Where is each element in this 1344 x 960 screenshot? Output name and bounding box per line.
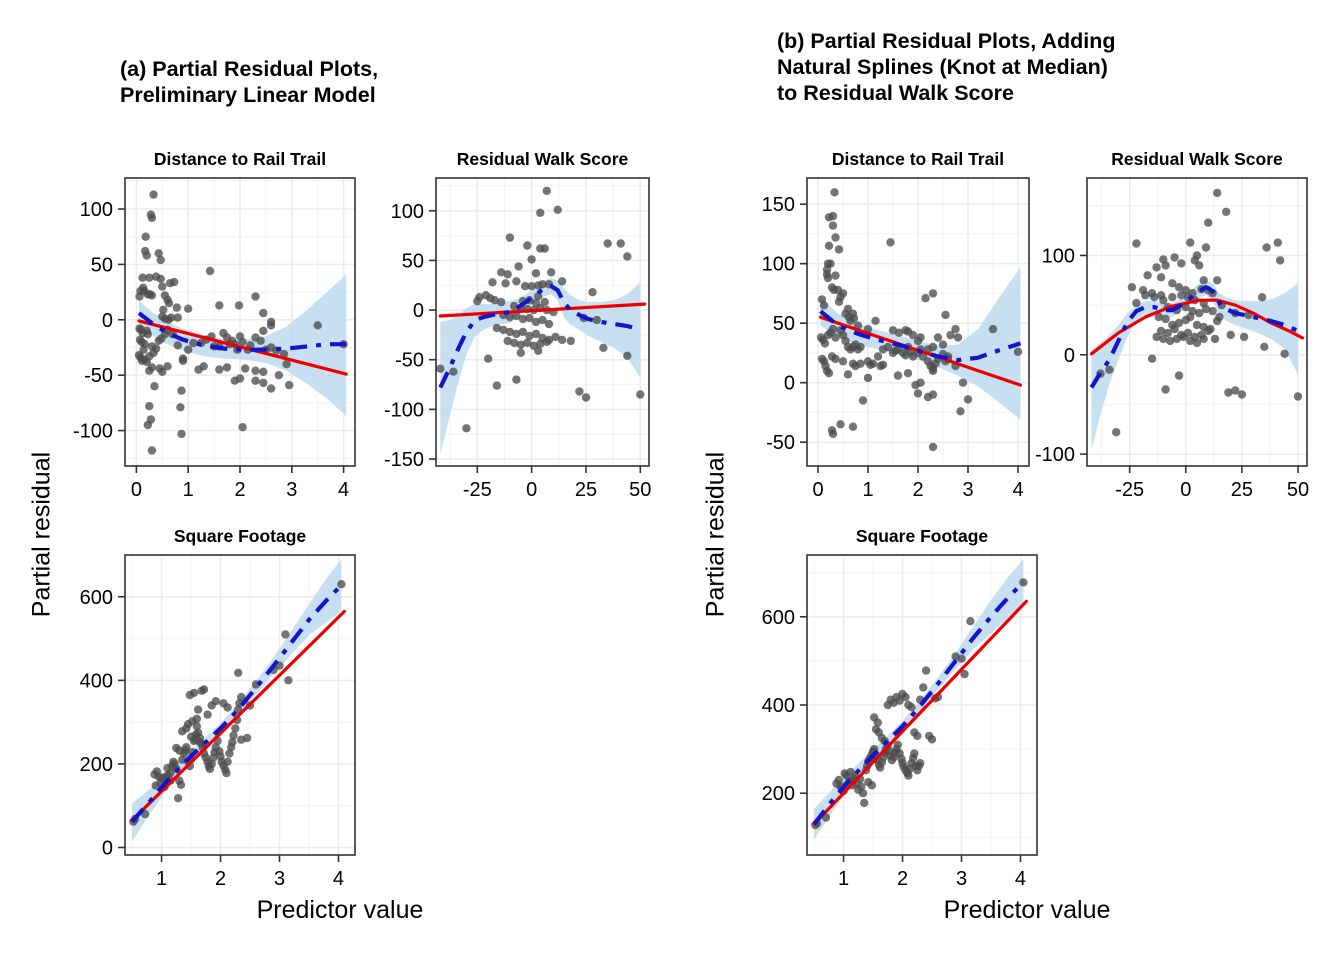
- data-point: [1143, 271, 1151, 279]
- data-point: [829, 212, 837, 220]
- data-point: [532, 269, 540, 277]
- data-point: [929, 289, 937, 297]
- data-point: [575, 387, 583, 395]
- data-point: [874, 352, 882, 360]
- data-point: [1161, 385, 1169, 393]
- y-tick-label: 50: [402, 250, 424, 272]
- data-point: [1224, 388, 1232, 396]
- x-tick-label: 25: [575, 479, 597, 501]
- data-point: [1200, 276, 1208, 284]
- panel-a-x-axis-title: Predictor value: [200, 896, 480, 925]
- data-point: [275, 371, 283, 379]
- data-point: [177, 781, 185, 789]
- subplot-title: Distance to Rail Trail: [832, 149, 1004, 169]
- data-point: [922, 666, 930, 674]
- data-point: [182, 724, 190, 732]
- data-point: [1276, 256, 1284, 264]
- x-tick-label: 25: [1231, 479, 1253, 501]
- data-point: [543, 338, 551, 346]
- x-tick-label: -25: [463, 479, 492, 501]
- data-point: [859, 396, 867, 404]
- data-point: [599, 344, 607, 352]
- data-point: [1240, 333, 1248, 341]
- subplot-square-footage: Square Footage12340200400600: [80, 526, 355, 890]
- data-point: [149, 190, 157, 198]
- data-point: [966, 617, 974, 625]
- data-point: [869, 360, 877, 368]
- data-point: [189, 339, 197, 347]
- x-tick-label: 50: [1287, 479, 1309, 501]
- data-point: [1280, 350, 1288, 358]
- y-tick-label: 600: [80, 587, 113, 609]
- y-tick-label: 100: [391, 201, 424, 223]
- data-point: [604, 239, 612, 247]
- data-point: [1274, 238, 1282, 246]
- y-tick-label: 100: [80, 199, 113, 221]
- data-point: [1132, 299, 1140, 307]
- data-point: [238, 423, 246, 431]
- data-point: [831, 271, 839, 279]
- data-point: [941, 311, 949, 319]
- data-point: [1170, 325, 1178, 333]
- data-point: [860, 799, 868, 807]
- data-point: [886, 238, 894, 246]
- panel-b-plots: Distance to Rail Trail01234-50050100150R…: [672, 0, 1344, 960]
- data-point: [959, 379, 967, 387]
- data-point: [558, 336, 566, 344]
- data-point: [1186, 313, 1194, 321]
- data-point: [871, 317, 879, 325]
- y-tick-label: 0: [1064, 345, 1075, 367]
- data-point: [143, 251, 151, 259]
- data-point: [231, 724, 239, 732]
- data-point: [1222, 208, 1230, 216]
- data-point: [148, 214, 156, 222]
- y-tick-label: 400: [80, 670, 113, 692]
- x-tick-label: 4: [1015, 868, 1026, 890]
- data-point: [212, 697, 220, 705]
- subplot-title: Distance to Rail Trail: [154, 149, 326, 169]
- data-point: [1204, 327, 1212, 335]
- data-point: [157, 275, 165, 283]
- data-point: [449, 368, 457, 376]
- data-point: [169, 758, 177, 766]
- data-point: [901, 693, 909, 701]
- data-point: [241, 364, 249, 372]
- data-point: [165, 299, 173, 307]
- data-point: [194, 705, 202, 713]
- data-point: [314, 321, 322, 329]
- y-tick-label: 150: [762, 194, 795, 216]
- data-point: [173, 303, 181, 311]
- data-point: [831, 333, 839, 341]
- data-point: [868, 781, 876, 789]
- data-point: [473, 297, 481, 305]
- data-point: [285, 381, 293, 389]
- data-point: [1168, 293, 1176, 301]
- panel-a-plots: Distance to Rail Trail01234-100-50050100…: [0, 0, 672, 960]
- data-point: [856, 360, 864, 368]
- data-point: [910, 749, 918, 757]
- x-tick-label: 1: [838, 868, 849, 890]
- data-point: [152, 344, 160, 352]
- y-tick-label: -150: [384, 449, 424, 471]
- data-point: [144, 421, 152, 429]
- data-point: [1213, 189, 1221, 197]
- data-point: [222, 769, 230, 777]
- data-point: [234, 669, 242, 677]
- x-tick-label: -25: [1115, 479, 1144, 501]
- data-point: [929, 443, 937, 451]
- data-point: [849, 423, 857, 431]
- subplot-distance-to-rail-trail: Distance to Rail Trail01234-50050100150: [762, 149, 1029, 501]
- data-point: [964, 395, 972, 403]
- data-point: [820, 301, 828, 309]
- data-point: [916, 759, 924, 767]
- data-point: [251, 292, 259, 300]
- y-tick-label: 600: [762, 607, 795, 629]
- x-tick-label: 3: [286, 479, 297, 501]
- data-point: [916, 333, 924, 341]
- subplot-residual-walk-score: Residual Walk Score-2502550-150-100-5005…: [384, 149, 651, 501]
- data-point: [623, 252, 631, 260]
- data-point: [1161, 261, 1169, 269]
- x-tick-label: 50: [629, 479, 651, 501]
- data-point: [929, 390, 937, 398]
- data-point: [825, 369, 833, 377]
- data-point: [835, 298, 843, 306]
- data-point: [259, 309, 267, 317]
- data-point: [1238, 390, 1246, 398]
- x-tick-label: 4: [333, 868, 344, 890]
- y-tick-label: -100: [384, 399, 424, 421]
- data-point: [543, 187, 551, 195]
- data-point: [623, 352, 631, 360]
- subplot-title: Square Footage: [174, 526, 307, 546]
- data-point: [956, 407, 964, 415]
- data-point: [484, 355, 492, 363]
- y-tick-label: -50: [766, 432, 795, 454]
- data-point: [534, 347, 542, 355]
- data-point: [1128, 283, 1136, 291]
- x-tick-label: 0: [526, 479, 537, 501]
- data-point: [830, 188, 838, 196]
- data-point: [148, 446, 156, 454]
- data-point: [831, 233, 839, 241]
- x-tick-label: 3: [962, 479, 973, 501]
- data-point: [158, 368, 166, 376]
- data-point: [267, 321, 275, 329]
- x-tick-label: 2: [215, 868, 226, 890]
- data-point: [835, 245, 843, 253]
- data-point: [436, 365, 444, 373]
- data-point: [504, 270, 512, 278]
- data-point: [894, 371, 902, 379]
- data-point: [582, 393, 590, 401]
- data-point: [259, 379, 267, 387]
- data-point: [928, 735, 936, 743]
- subplot-title: Residual Walk Score: [1111, 149, 1283, 169]
- data-point: [267, 384, 275, 392]
- data-point: [1258, 293, 1266, 301]
- data-point: [176, 403, 184, 411]
- y-tick-label: 50: [91, 254, 113, 276]
- data-point: [174, 313, 182, 321]
- data-point: [1209, 307, 1217, 315]
- subplot-title: Square Footage: [856, 526, 989, 546]
- data-point: [910, 728, 918, 736]
- data-point: [145, 402, 153, 410]
- data-point: [281, 630, 289, 638]
- x-tick-label: 4: [338, 479, 349, 501]
- subplot-square-footage: Square Footage1234200400600: [762, 526, 1037, 890]
- data-point: [545, 320, 553, 328]
- data-point: [179, 357, 187, 365]
- data-point: [177, 387, 185, 395]
- y-tick-label: -50: [395, 350, 424, 372]
- y-tick-label: 200: [80, 754, 113, 776]
- data-point: [1213, 317, 1221, 325]
- panel-b-x-axis-title: Predictor value: [887, 896, 1167, 925]
- data-point: [859, 789, 867, 797]
- x-tick-label: 2: [897, 868, 908, 890]
- data-point: [1175, 371, 1183, 379]
- data-point: [215, 301, 223, 309]
- data-point: [824, 274, 832, 282]
- data-point: [588, 288, 596, 296]
- data-point: [1161, 315, 1169, 323]
- x-tick-label: 3: [956, 868, 967, 890]
- data-point: [158, 282, 166, 290]
- data-point: [184, 305, 192, 313]
- data-point: [206, 267, 214, 275]
- data-point: [547, 268, 555, 276]
- data-point: [844, 370, 852, 378]
- data-point: [954, 333, 962, 341]
- y-tick-label: -100: [1035, 444, 1075, 466]
- data-point: [259, 368, 267, 376]
- panel-a-y-axis-title: Partial residual: [28, 405, 57, 665]
- data-point: [251, 367, 259, 375]
- data-point: [874, 718, 882, 726]
- x-tick-label: 0: [131, 479, 142, 501]
- data-point: [174, 794, 182, 802]
- data-point: [150, 382, 158, 390]
- x-tick-label: 1: [156, 868, 167, 890]
- data-point: [1141, 291, 1149, 299]
- data-point: [200, 685, 208, 693]
- data-point: [1105, 366, 1113, 374]
- data-point: [951, 325, 959, 333]
- data-point: [914, 389, 922, 397]
- data-point: [839, 357, 847, 365]
- data-point: [1170, 253, 1178, 261]
- data-point: [567, 337, 575, 345]
- data-point: [235, 301, 243, 309]
- data-point: [145, 367, 153, 375]
- data-point: [1204, 219, 1212, 227]
- data-point: [488, 278, 496, 286]
- data-point: [929, 343, 937, 351]
- data-point: [148, 291, 156, 299]
- data-point: [879, 361, 887, 369]
- y-tick-label: 0: [102, 837, 113, 859]
- data-point: [850, 314, 858, 322]
- data-point: [527, 255, 535, 263]
- data-point: [193, 715, 201, 723]
- x-tick-label: 0: [1180, 479, 1191, 501]
- data-point: [825, 242, 833, 250]
- y-tick-label: 200: [762, 783, 795, 805]
- data-point: [829, 221, 837, 229]
- data-point: [243, 734, 251, 742]
- data-point: [1112, 428, 1120, 436]
- panel-a-title: (a) Partial Residual Plots, Preliminary …: [120, 56, 540, 108]
- data-point: [177, 430, 185, 438]
- data-point: [506, 233, 514, 241]
- data-point: [1150, 293, 1158, 301]
- data-point: [223, 363, 231, 371]
- y-tick-label: -50: [84, 365, 113, 387]
- data-point: [1157, 273, 1165, 281]
- figure-root: (a) Partial Residual Plots, Preliminary …: [0, 0, 1344, 960]
- panel-b-y-axis-title: Partial residual: [702, 405, 731, 665]
- data-point: [174, 341, 182, 349]
- data-point: [517, 349, 525, 357]
- data-point: [1262, 243, 1270, 251]
- data-point: [514, 262, 522, 270]
- data-point: [229, 731, 237, 739]
- data-point: [175, 746, 183, 754]
- data-point: [135, 292, 143, 300]
- subplot-distance-to-rail-trail: Distance to Rail Trail01234-100-50050100: [73, 149, 355, 501]
- data-point: [284, 676, 292, 684]
- data-point: [1159, 296, 1167, 304]
- figure-panel-b: (b) Partial Residual Plots, Adding Natur…: [672, 0, 1344, 960]
- data-point: [251, 377, 259, 385]
- data-point: [1202, 243, 1210, 251]
- data-point: [916, 379, 924, 387]
- data-point: [142, 233, 150, 241]
- data-point: [144, 330, 152, 338]
- x-tick-label: 1: [862, 479, 873, 501]
- data-point: [257, 337, 265, 345]
- data-point: [558, 277, 566, 285]
- data-point: [215, 365, 223, 373]
- data-point: [829, 430, 837, 438]
- data-point: [839, 289, 847, 297]
- data-point: [1213, 276, 1221, 284]
- data-point: [337, 580, 345, 588]
- data-point: [259, 327, 267, 335]
- data-point: [1177, 259, 1185, 267]
- data-point: [184, 346, 192, 354]
- data-point: [536, 209, 544, 217]
- data-point: [1152, 263, 1160, 271]
- data-point: [512, 375, 520, 383]
- data-point: [593, 316, 601, 324]
- data-point: [904, 369, 912, 377]
- data-point: [829, 325, 837, 333]
- data-point: [501, 279, 509, 287]
- data-point: [462, 424, 470, 432]
- y-tick-label: 0: [784, 373, 795, 395]
- data-point: [223, 703, 231, 711]
- data-point: [856, 343, 864, 351]
- data-point: [939, 340, 947, 348]
- data-point: [989, 325, 997, 333]
- data-point: [831, 355, 839, 363]
- data-point: [497, 298, 505, 306]
- data-point: [1200, 335, 1208, 343]
- data-point: [636, 390, 644, 398]
- y-tick-label: 100: [762, 254, 795, 276]
- data-point: [163, 764, 171, 772]
- data-point: [957, 655, 965, 663]
- y-tick-label: 0: [413, 300, 424, 322]
- x-tick-label: 4: [1012, 479, 1023, 501]
- data-point: [1227, 331, 1235, 339]
- y-tick-label: -100: [73, 421, 113, 443]
- data-point: [1014, 348, 1022, 356]
- data-point: [894, 741, 902, 749]
- data-point: [523, 241, 531, 249]
- x-tick-label: 0: [812, 479, 823, 501]
- data-point: [617, 239, 625, 247]
- data-point: [821, 339, 829, 347]
- x-tick-label: 3: [274, 868, 285, 890]
- data-point: [864, 374, 872, 382]
- subplot-title: Residual Walk Score: [457, 149, 629, 169]
- data-point: [1195, 261, 1203, 269]
- data-point: [203, 710, 211, 718]
- data-point: [238, 338, 246, 346]
- data-point: [186, 691, 194, 699]
- data-point: [493, 381, 501, 389]
- data-point: [200, 362, 208, 370]
- y-tick-label: 50: [773, 313, 795, 335]
- y-tick-label: 100: [1042, 245, 1075, 267]
- data-point: [934, 333, 942, 341]
- y-tick-label: 0: [102, 310, 113, 332]
- data-point: [1148, 355, 1156, 363]
- data-point: [1260, 343, 1268, 351]
- data-point: [231, 377, 239, 385]
- data-point: [554, 206, 562, 214]
- data-point: [157, 256, 165, 264]
- x-tick-label: 2: [912, 479, 923, 501]
- data-point: [907, 703, 915, 711]
- data-point: [223, 758, 231, 766]
- x-tick-label: 1: [183, 479, 194, 501]
- data-point: [921, 294, 929, 302]
- panel-b-title: (b) Partial Residual Plots, Adding Natur…: [777, 28, 1247, 106]
- data-point: [541, 244, 549, 252]
- y-tick-label: 400: [762, 695, 795, 717]
- data-point: [1294, 392, 1302, 400]
- data-point: [846, 768, 854, 776]
- data-point: [1132, 239, 1140, 247]
- subplot-residual-walk-score: Residual Walk Score-2502550-1000100: [1035, 149, 1309, 501]
- data-point: [1211, 335, 1219, 343]
- data-point: [1186, 238, 1194, 246]
- data-point: [170, 278, 178, 286]
- data-point: [919, 683, 927, 691]
- data-point: [836, 420, 844, 428]
- data-point: [512, 277, 520, 285]
- figure-panel-a: (a) Partial Residual Plots, Preliminary …: [0, 0, 672, 960]
- x-tick-label: 2: [234, 479, 245, 501]
